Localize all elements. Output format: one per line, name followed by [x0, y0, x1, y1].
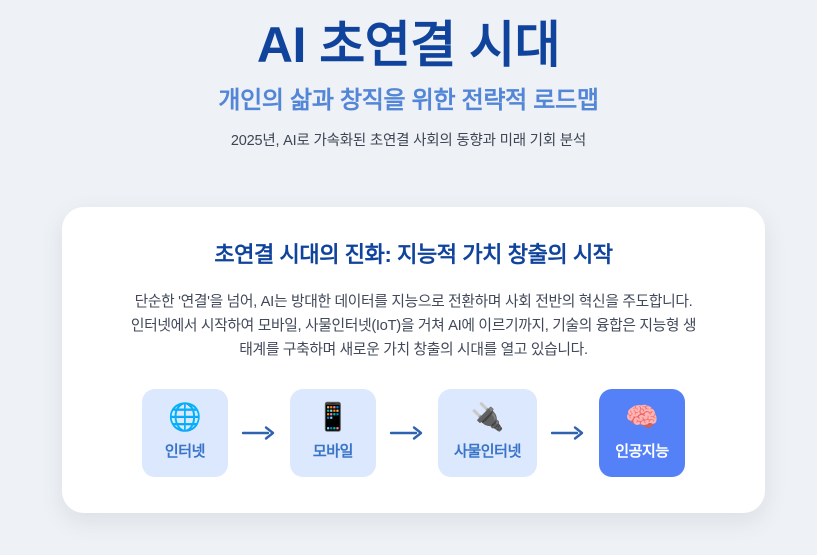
flow-step-label: 사물인터넷 [454, 440, 521, 461]
card-body: 단순한 '연결'을 넘어, AI는 방대한 데이터를 지능으로 전환하며 사회 … [90, 291, 737, 363]
arrow-right-icon [376, 425, 438, 441]
flow-step-iot[interactable]: 🔌 사물인터넷 [438, 389, 537, 477]
brain-icon: 🧠 [625, 404, 659, 431]
flow-step-internet[interactable]: 🌐 인터넷 [142, 389, 228, 477]
page-root: AI 초연결 시대 개인의 삶과 창직을 위한 전략적 로드맵 2025년, A… [0, 0, 817, 555]
flow-step-label: 인공지능 [615, 440, 669, 461]
electric-plug-icon: 🔌 [471, 404, 505, 431]
card-body-line: 태계를 구축하며 새로운 가치 창출의 시대를 열고 있습니다. [90, 339, 737, 363]
card-body-line: 인터넷에서 시작하여 모바일, 사물인터넷(IoT)을 거쳐 AI에 이르기까지… [90, 315, 737, 339]
arrow-right-icon [537, 425, 599, 441]
evolution-flow: 🌐 인터넷 📱 모바일 🔌 사물인 [90, 389, 737, 477]
page-header: AI 초연결 시대 개인의 삶과 창직을 위한 전략적 로드맵 2025년, A… [0, 0, 817, 150]
content-card: 초연결 시대의 진화: 지능적 가치 창출의 시작 단순한 '연결'을 넘어, … [62, 207, 765, 513]
card-body-line: 단순한 '연결'을 넘어, AI는 방대한 데이터를 지능으로 전환하며 사회 … [90, 291, 737, 315]
page-title: AI 초연결 시대 [0, 16, 817, 75]
flow-step-label: 인터넷 [165, 440, 205, 461]
arrow-right-icon [228, 425, 290, 441]
flow-step-ai[interactable]: 🧠 인공지능 [599, 389, 685, 477]
flow-step-label: 모바일 [313, 440, 353, 461]
globe-icon: 🌐 [168, 404, 202, 431]
page-subtitle: 개인의 삶과 창직을 위한 전략적 로드맵 [0, 85, 817, 116]
flow-step-mobile[interactable]: 📱 모바일 [290, 389, 376, 477]
mobile-phone-icon: 📱 [316, 404, 350, 431]
page-description: 2025년, AI로 가속화된 초연결 사회의 동향과 미래 기회 분석 [0, 129, 817, 150]
card-title: 초연결 시대의 진화: 지능적 가치 창출의 시작 [90, 237, 737, 269]
